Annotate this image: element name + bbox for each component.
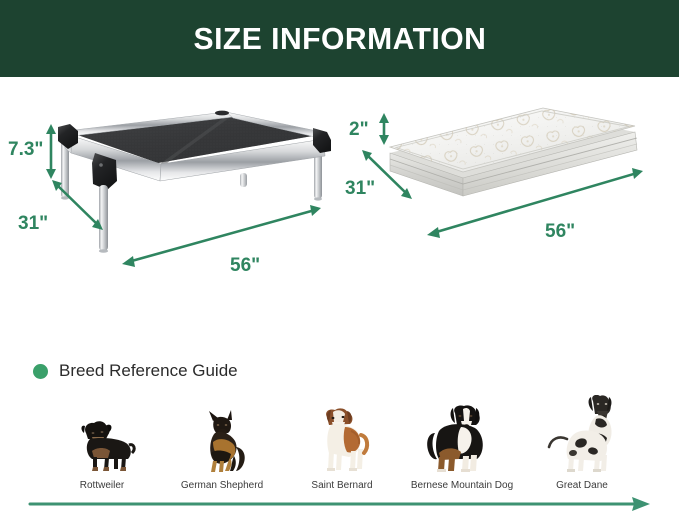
- bed-height-label: 7.3": [8, 139, 43, 160]
- mattress-width-label: 31": [345, 178, 375, 199]
- breed-label: Rottweiler: [80, 480, 124, 491]
- breed-item-german-shepherd: German Shepherd: [162, 409, 282, 491]
- bullet-icon: [33, 364, 48, 379]
- bed-cap-top-mid: [215, 111, 229, 116]
- breed-item-rottweiler: Rottweiler: [42, 413, 162, 491]
- bed-diagram: 7.3" 31" 56": [0, 77, 345, 347]
- product-diagrams: 7.3" 31" 56": [0, 77, 679, 347]
- breed-item-great-dane: Great Dane: [522, 395, 642, 491]
- saint-bernard-image: [305, 405, 379, 475]
- breed-guide-heading-label: Breed Reference Guide: [59, 361, 238, 381]
- mattress-diagram: 2" 31" 56": [345, 77, 679, 347]
- rottweiler-image: [66, 413, 138, 475]
- size-progression-arrow: [28, 495, 653, 513]
- breed-item-bernese-mountain-dog: Bernese Mountain Dog: [402, 403, 522, 491]
- bed-length-label: 56": [230, 255, 260, 276]
- bed-leg-front-left: [99, 185, 108, 251]
- breed-label: Saint Bernard: [311, 480, 372, 491]
- breed-label: Bernese Mountain Dog: [411, 480, 513, 491]
- page-title: SIZE INFORMATION: [193, 21, 486, 57]
- mattress-illustration: 2" 31" 56": [345, 77, 679, 347]
- breed-item-saint-bernard: Saint Bernard: [282, 405, 402, 491]
- great-dane-image: [543, 395, 621, 475]
- mattress-length-label: 56": [545, 221, 575, 242]
- breed-guide-heading: Breed Reference Guide: [33, 361, 238, 381]
- mattress-height-label: 2": [349, 119, 369, 140]
- breed-list: Rottweiler: [42, 395, 642, 491]
- breed-reference-section: Breed Reference Guide: [0, 347, 679, 518]
- bernese-mountain-dog-image: [419, 403, 505, 475]
- breed-label: Great Dane: [556, 480, 608, 491]
- bed-illustration: 7.3" 31" 56": [0, 77, 345, 347]
- breed-label: German Shepherd: [181, 480, 263, 491]
- german-shepherd-image: [187, 409, 257, 475]
- page-header: SIZE INFORMATION: [0, 0, 679, 77]
- bed-width-label: 31": [18, 213, 48, 234]
